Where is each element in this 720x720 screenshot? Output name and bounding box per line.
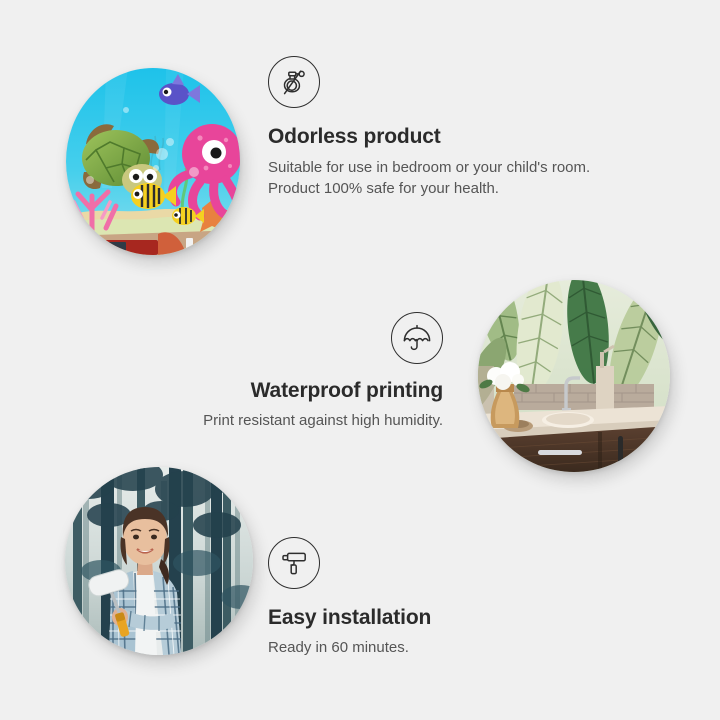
installation-scene-art <box>65 467 253 655</box>
feature-highlights-page: Odorless product Suitable for use in bed… <box>0 0 720 720</box>
feature-title: Waterproof printing <box>143 379 443 403</box>
feature-description: Print resistant against high humidity. <box>143 410 443 431</box>
bathroom-scene-art <box>478 280 670 472</box>
feature-description: Ready in 60 minutes. <box>268 637 431 658</box>
feature-block-installation: Easy installation Ready in 60 minutes. <box>268 537 431 658</box>
feature-block-waterproof: Waterproof printing Print resistant agai… <box>143 312 443 431</box>
image-underwater-mural <box>66 68 240 255</box>
image-bathroom-tropical-wallpaper <box>478 280 670 472</box>
feature-title: Odorless product <box>268 125 598 149</box>
feature-block-odorless: Odorless product Suitable for use in bed… <box>268 56 598 200</box>
underwater-scene-art <box>66 68 240 255</box>
image-woman-paint-roller-forest <box>65 467 253 655</box>
paint-roller-icon <box>268 537 320 589</box>
umbrella-icon <box>391 312 443 364</box>
no-odor-perfume-bottle-icon <box>268 56 320 108</box>
feature-title: Easy installation <box>268 606 431 630</box>
feature-description: Suitable for use in bedroom or your chil… <box>268 157 598 200</box>
